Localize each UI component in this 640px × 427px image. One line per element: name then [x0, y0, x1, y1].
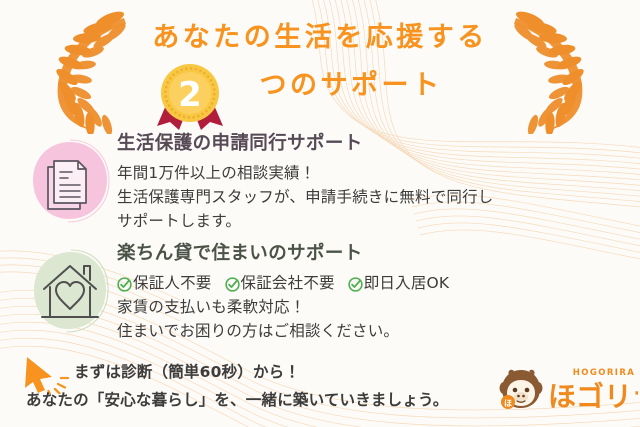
click-cursor-icon: [18, 354, 74, 394]
check-item-2: 保証会社不要: [225, 271, 335, 295]
check-label-3: 即日入居OK: [364, 271, 450, 295]
logo-badge-kana: ほ: [504, 399, 512, 408]
check-label-2: 保証会社不要: [241, 271, 335, 295]
check-circle-icon: [348, 275, 363, 290]
support-1-line-3: サポートします。: [117, 209, 635, 233]
check-circle-icon: [225, 275, 240, 290]
gorilla-mascot-icon: ほ: [500, 370, 543, 409]
header: あなたの生活を応援する 2 つのサポート: [0, 0, 640, 132]
footer: まずは診断（簡単60秒）から！ あなたの「安心な暮らし」を、一緒に築いていきまし…: [0, 352, 640, 427]
support-1-body: 生活保護の申請同行サポート 年間1万件以上の相談実績！ 生活保護専門スタッフが、…: [117, 135, 635, 233]
pink-circle-blob: [30, 139, 110, 223]
hogorira-logo[interactable]: ほ HOGORIRA ほゴリラ: [498, 362, 638, 418]
support-1-heading: 生活保護の申請同行サポート: [117, 135, 635, 154]
support-2-line-2: 住まいでお困りの方はご相談ください。: [117, 319, 635, 343]
headline-line-2: つのサポート: [0, 72, 640, 99]
check-circle-icon: [117, 275, 132, 290]
green-circle-blob: [30, 249, 110, 333]
check-item-3: 即日入居OK: [348, 271, 450, 295]
footer-line-1: まずは診断（簡単60秒）から！: [74, 365, 300, 381]
support-2-heading: 楽ちん貸で住まいのサポート: [117, 245, 635, 264]
promo-banner: あなたの生活を応援する 2 つのサポート: [0, 0, 640, 427]
support-2-body: 楽ちん貸で住まいのサポート 保証人不要: [117, 245, 635, 343]
check-label-1: 保証人不要: [133, 271, 212, 295]
footer-line-2: あなたの「安心な暮らし」を、一緒に築いていきましょう。: [26, 393, 449, 409]
support-1-line-2: 生活保護専門スタッフが、申請手続きに無料で同行し: [117, 185, 635, 209]
headline-line-1: あなたの生活を応援する: [0, 24, 640, 51]
support-2-line-1: 家賃の支払いも柔軟対応！: [117, 295, 635, 319]
headline-line-2-text: つのサポート: [260, 70, 443, 101]
check-item-1: 保証人不要: [117, 271, 212, 295]
logo-romaji: HOGORIRA: [573, 368, 636, 378]
support-2-check-list: 保証人不要 保証会社不要: [117, 271, 635, 295]
support-1-line-1: 年間1万件以上の相談実績！: [117, 161, 635, 185]
logo-wordmark: ほゴリラ: [548, 380, 638, 413]
